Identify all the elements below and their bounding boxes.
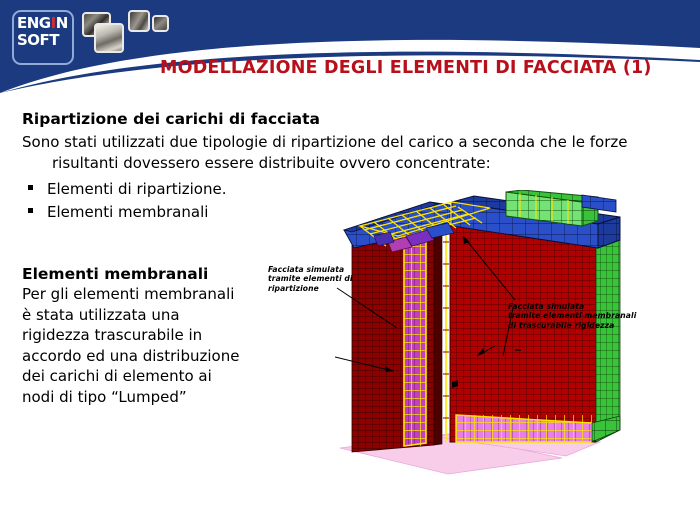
logo-eng: ENG bbox=[17, 14, 51, 32]
membranali-line-6: nodi di tipo “Lumped” bbox=[22, 387, 272, 408]
membranali-line-3: rigidezza trascurabile in bbox=[22, 325, 272, 346]
callout-a-line-2: tramite elementi di bbox=[268, 274, 388, 283]
bullet-square-icon bbox=[28, 185, 33, 190]
paragraph-line-1: Sono stati utilizzati due tipologie di r… bbox=[22, 133, 627, 151]
section-heading-membranali: Elementi membranali bbox=[22, 265, 272, 284]
list-item-membranali: Elementi membranali bbox=[28, 203, 208, 221]
section-heading-ripartizione: Ripartizione dei carichi di facciata bbox=[22, 110, 320, 128]
list-item-label: Elementi di ripartizione. bbox=[47, 180, 226, 198]
logo-n: N bbox=[56, 14, 68, 32]
thumb-photo-3-icon bbox=[128, 10, 150, 32]
thumb-photo-4-icon bbox=[152, 15, 169, 32]
thumb-photo-2-icon bbox=[94, 23, 124, 53]
membranali-line-2: è stata utilizzata una bbox=[22, 305, 272, 326]
membranali-line-4: accordo ed una distribuzione bbox=[22, 346, 272, 367]
fem-model-image bbox=[330, 190, 670, 480]
logo-soft: SOFT bbox=[17, 33, 79, 48]
section-membranali: Elementi membranali Per gli elementi mem… bbox=[22, 265, 272, 407]
slide-header: ENGIN SOFT MODELLAZIONE DEGLI ELEMENTI D… bbox=[0, 0, 700, 93]
logo-thumbnail-strip bbox=[82, 8, 162, 63]
callout-b-line-3: di trascurabile rigidezza bbox=[508, 321, 658, 330]
callout-membranali: Facciata simulata tramite elementi membr… bbox=[508, 302, 658, 330]
membranali-line-1: Per gli elementi membranali bbox=[22, 284, 272, 305]
slide-root: ENGIN SOFT MODELLAZIONE DEGLI ELEMENTI D… bbox=[0, 0, 700, 525]
membranali-line-5: dei carichi di elemento ai bbox=[22, 366, 272, 387]
list-item-ripartizione: Elementi di ripartizione. bbox=[28, 180, 226, 198]
callout-a-line-3: ripartizione bbox=[268, 284, 388, 293]
callout-b-line-2: tramite elementi membranali bbox=[508, 311, 658, 320]
paragraph-line-2: risultanti dovessero essere distribuite … bbox=[52, 154, 491, 172]
page-title: MODELLAZIONE DEGLI ELEMENTI DI FACCIATA … bbox=[160, 58, 652, 78]
callout-ripartizione: Facciata simulata tramite elementi di ri… bbox=[268, 265, 388, 293]
bullet-square-icon bbox=[28, 208, 33, 213]
logo-wordmark: ENGIN SOFT bbox=[17, 16, 79, 48]
callout-b-line-1: Facciata simulata bbox=[508, 302, 658, 311]
list-item-label: Elementi membranali bbox=[47, 203, 208, 221]
callout-a-line-1: Facciata simulata bbox=[268, 265, 388, 274]
slide-footer: SAIE 2008 – Stand HSH S.r.l. Key partner… bbox=[0, 475, 700, 525]
